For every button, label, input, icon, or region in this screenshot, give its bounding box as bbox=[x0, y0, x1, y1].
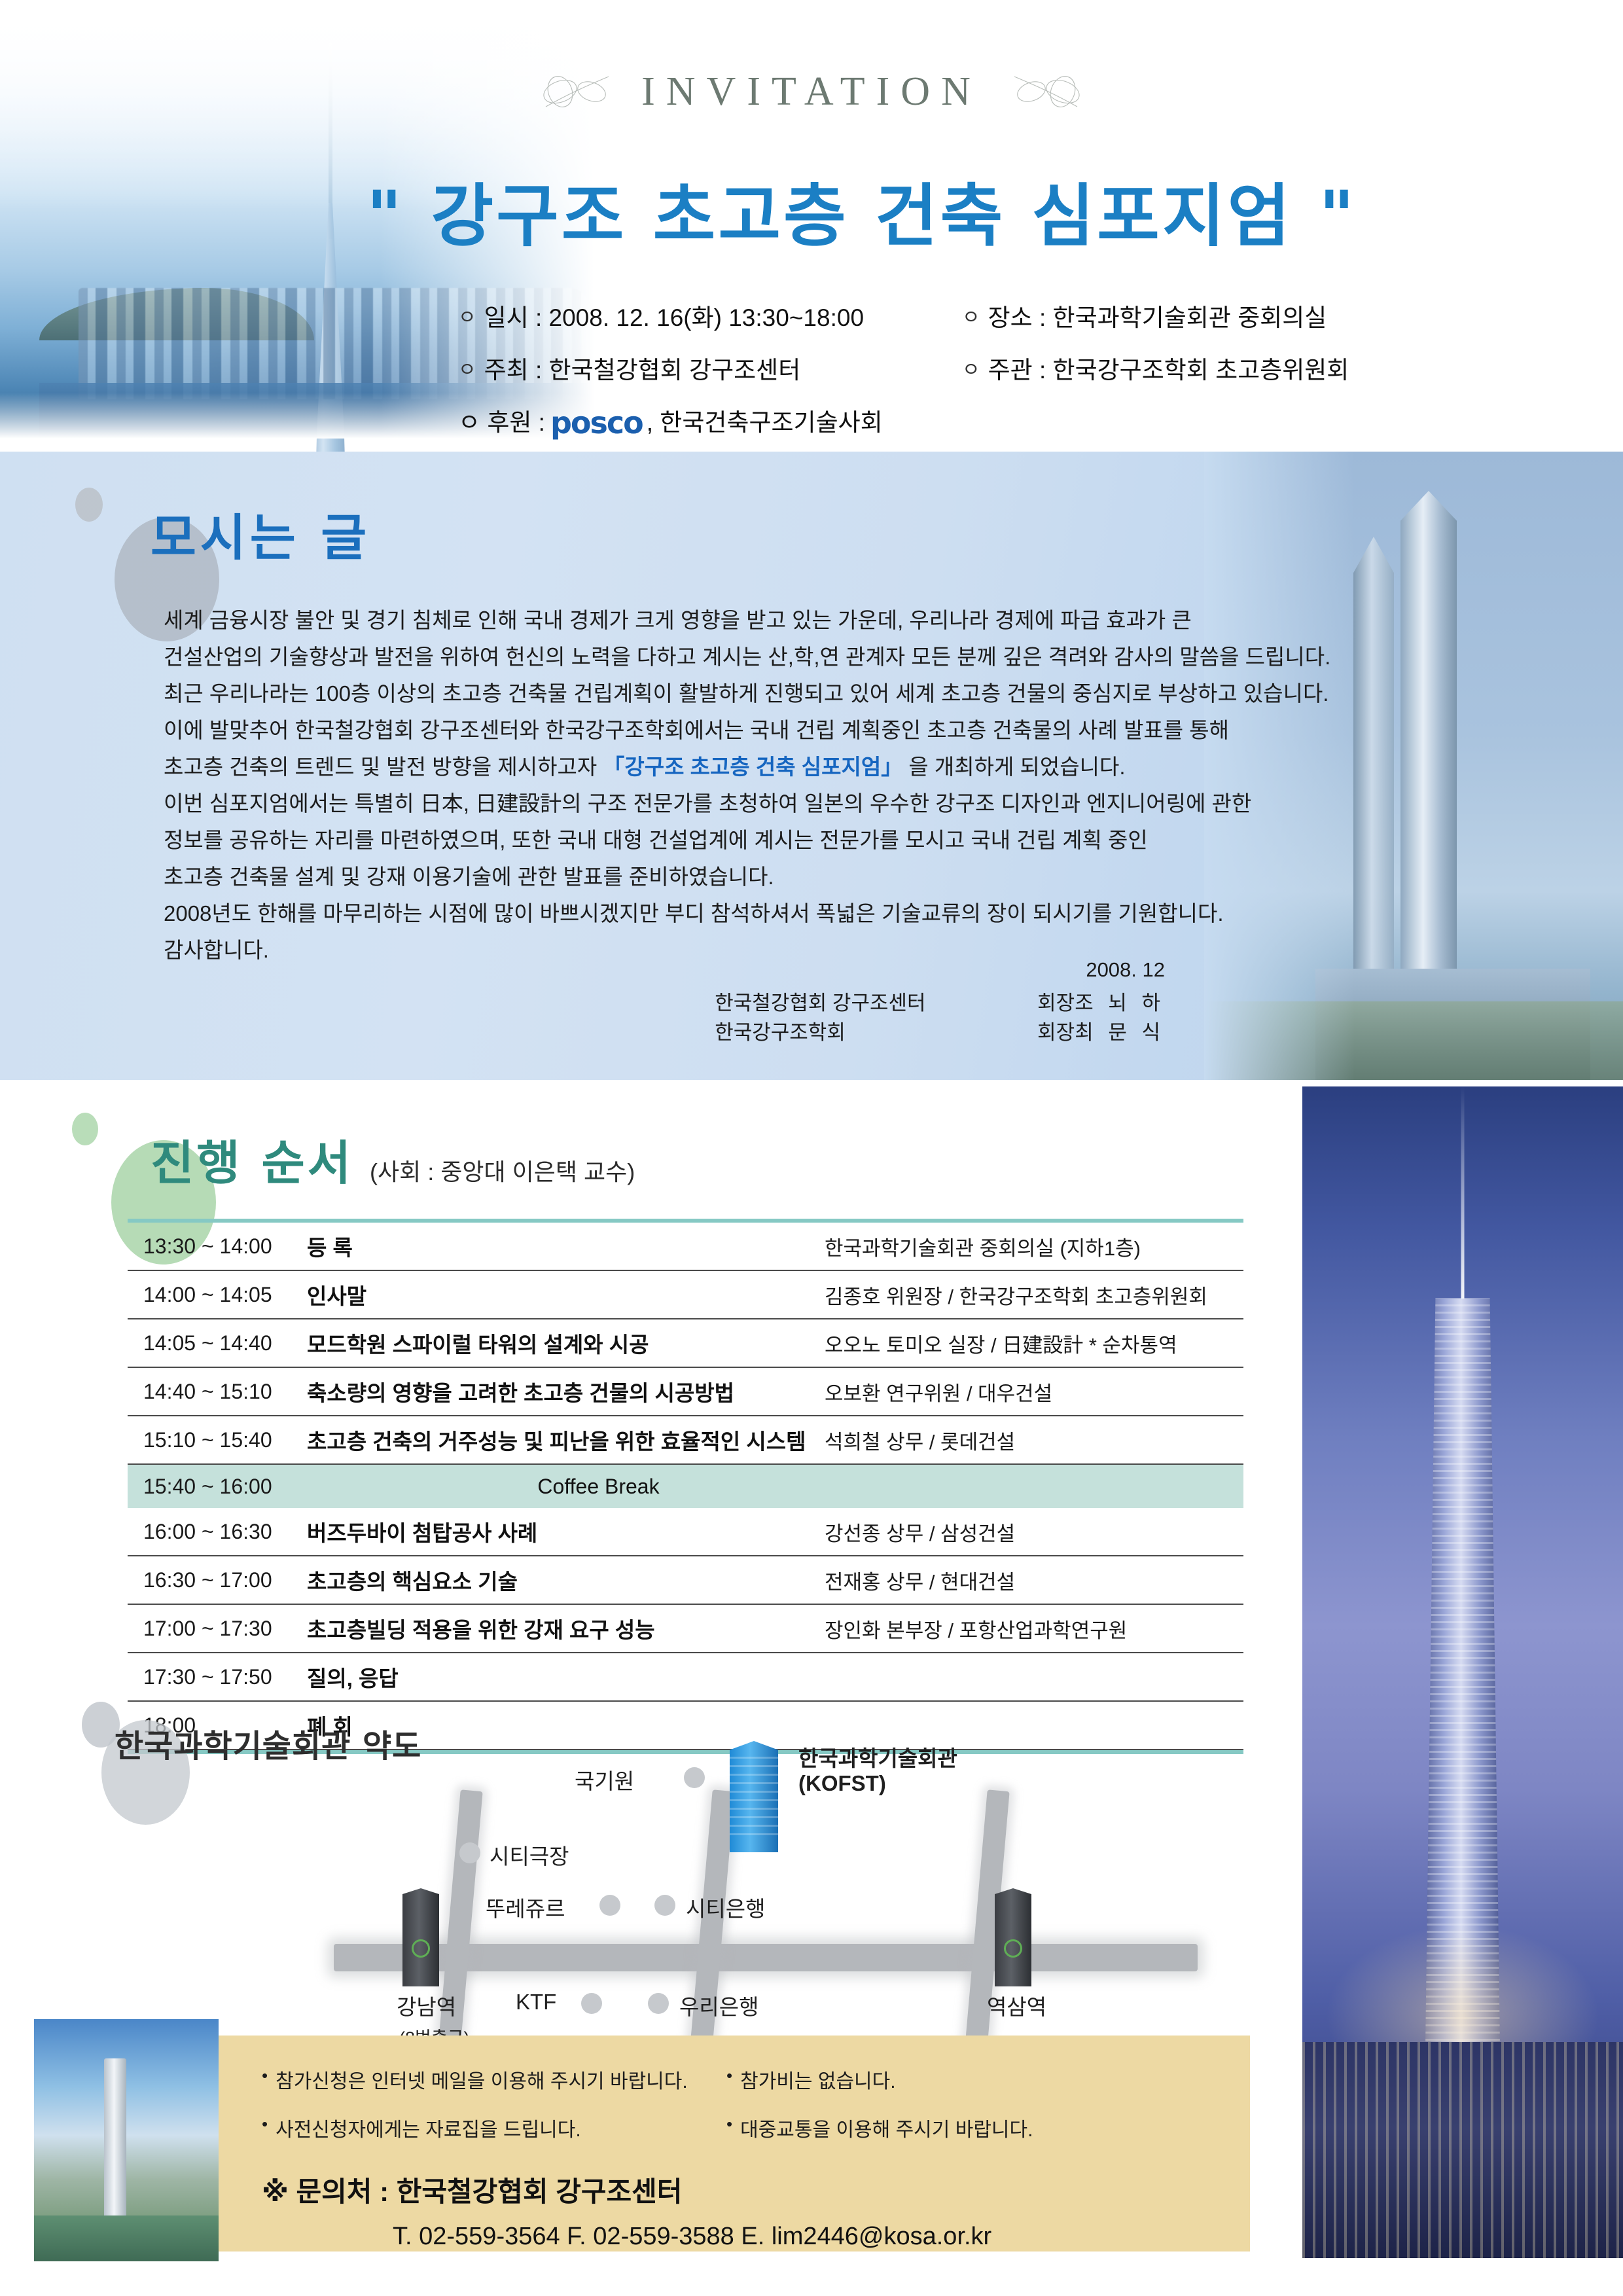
program-subtitle: (사회 : 중앙대 이은택 교수) bbox=[370, 1153, 635, 1187]
meta-sponsor: ㅇ 후원 : posco , 한국건축구조기술사회 bbox=[458, 403, 883, 438]
row-time: 16:00 ~ 16:30 bbox=[128, 1520, 307, 1544]
row-time: 15:40 ~ 16:00 bbox=[128, 1475, 307, 1499]
bullet-dot-icon: • bbox=[726, 2113, 732, 2136]
poi-label-gukgiwon: 국기원 bbox=[575, 1764, 634, 1795]
note-text: 참가신청은 인터넷 메일을 이용해 주시기 바랍니다. bbox=[276, 2065, 688, 2094]
row-topic: 인사말 bbox=[307, 1279, 825, 1310]
flourish-left-icon bbox=[541, 69, 613, 115]
table-row: 16:00 ~ 16:30 버즈두바이 첨탑공사 사례 강선종 상무 / 삼성건… bbox=[128, 1508, 1243, 1556]
yeoksam-station-marker bbox=[995, 1888, 1031, 1986]
poi-label-gangnam-station: 강남역 bbox=[397, 1990, 456, 2021]
note-item: • 사전신청자에게는 자료집을 드립니다. bbox=[262, 2113, 726, 2142]
table-row: 15:10 ~ 15:40 초고층 건축의 거주성능 및 피난을 위한 효율적인… bbox=[128, 1416, 1243, 1465]
footer-notes: • 참가신청은 인터넷 메일을 이용해 주시기 바랍니다. • 참가비는 없습니… bbox=[262, 2065, 1178, 2162]
footer-thumbnail-image bbox=[34, 2019, 219, 2261]
signature-name: 조 뇌 하 bbox=[1075, 989, 1165, 1018]
meta-sponsor-rest: , 한국건축구조기술사회 bbox=[647, 403, 883, 438]
schedule-table: 13:30 ~ 14:00 등 록 한국과학기술회관 중회의실 (지하1층) 1… bbox=[128, 1219, 1243, 1754]
signature-name: 최 문 식 bbox=[1075, 1018, 1165, 1048]
contact-details: T. 02-559-3564 F. 02-559-3588 E. lim2446… bbox=[393, 2223, 991, 2251]
row-time: 17:00 ~ 17:30 bbox=[128, 1617, 307, 1641]
greeting-paragraph: 건설산업의 기술향상과 발전을 위하여 헌신의 노력을 다하고 계시는 산,학,… bbox=[164, 645, 1185, 670]
signature-line: 한국철강협회 강구조센터 회장 조 뇌 하 bbox=[715, 989, 1165, 1018]
row-time: 17:30 ~ 17:50 bbox=[128, 1665, 307, 1689]
row-topic: 초고층의 핵심요소 기술 bbox=[307, 1564, 825, 1596]
note-row: • 사전신청자에게는 자료집을 드립니다. • 대중교통을 이용해 주시기 바랍… bbox=[262, 2113, 1178, 2142]
greeting-paragraph: 이번 심포지엄에서는 특별히 日本, 日建設計의 구조 전문가를 초청하여 일본… bbox=[164, 792, 1185, 816]
note-row: • 참가신청은 인터넷 메일을 이용해 주시기 바랍니다. • 참가비는 없습니… bbox=[262, 2065, 1178, 2094]
row-speaker: 김종호 위원장 / 한국강구조학회 초고층위원회 bbox=[825, 1280, 1243, 1310]
greeting-paragraph-highlight: 초고층 건축의 트렌드 및 발전 방향을 제시하고자 「강구조 초고층 건축 심… bbox=[164, 755, 1185, 780]
meta-bullet-icon: ㅇ bbox=[458, 301, 476, 330]
row-speaker: 장인화 본부장 / 포항산업과학연구원 bbox=[825, 1614, 1243, 1643]
table-row: 14:40 ~ 15:10 축소량의 영향을 고려한 초고층 건물의 시공방법 … bbox=[128, 1368, 1243, 1416]
row-topic: 초고층 건축의 거주성능 및 피난을 위한 효율적인 시스템 bbox=[307, 1424, 825, 1456]
posco-logo: posco bbox=[550, 405, 643, 440]
meta-host-text: 주최 : 한국철강협회 강구조센터 bbox=[484, 350, 801, 386]
location-map: 국기원 한국과학기술회관 (KOFST) 시티극장 뚜레쥬르 시티은행 강남역 … bbox=[281, 1728, 1250, 2042]
note-text: 사전신청자에게는 자료집을 드립니다. bbox=[276, 2113, 581, 2142]
bullet-dot-icon: • bbox=[262, 2113, 268, 2136]
meta-bullet-icon: ㅇ bbox=[458, 353, 476, 382]
tower-secondary bbox=[1353, 537, 1394, 988]
row-topic: 초고층빌딩 적용을 위한 강재 요구 성능 bbox=[307, 1613, 825, 1644]
highlight-post: 을 개최하게 되었습니다. bbox=[902, 755, 1125, 779]
poi-label-woori-bank: 우리은행 bbox=[679, 1990, 758, 2021]
greeting-paragraph: 2008년도 한해를 마무리하는 시점에 많이 바쁘시겠지만 부디 참석하셔서 … bbox=[164, 902, 1185, 926]
table-row: 17:00 ~ 17:30 초고층빌딩 적용을 위한 강재 요구 성능 장인화 … bbox=[128, 1605, 1243, 1653]
poi-dot-woori-bank bbox=[648, 1993, 669, 2014]
contact-block: ※ 문의처 : 한국철강협회 강구조센터 T. 02-559-3564 F. 0… bbox=[262, 2170, 991, 2251]
meta-host: ㅇ 주최 : 한국철강협회 강구조센터 bbox=[458, 350, 962, 386]
greeting-paragraph: 이에 발맞추어 한국철강협회 강구조센터와 한국강구조학회에서는 국내 건립 계… bbox=[164, 719, 1185, 743]
meta-bullet-icon: ㅇ bbox=[962, 353, 980, 382]
poi-dot-tous-les-jours bbox=[599, 1895, 620, 1916]
meta-organizer-text: 주관 : 한국강구조학회 초고층위원회 bbox=[988, 350, 1349, 386]
table-row: 17:30 ~ 17:50 질의, 응답 bbox=[128, 1653, 1243, 1702]
highlight-pre: 초고층 건축의 트렌드 및 발전 방향을 제시하고자 bbox=[164, 755, 603, 779]
greeting-paragraph: 정보를 공유하는 자리를 마련하였으며, 또한 국내 대형 건설업계에 계시는 … bbox=[164, 829, 1185, 853]
event-meta: ㅇ 일시 : 2008. 12. 16(화) 13:30~18:00 ㅇ 장소 … bbox=[458, 298, 1505, 452]
row-topic: 버즈두바이 첨탑공사 사례 bbox=[307, 1516, 825, 1547]
letter-image-fade bbox=[1204, 452, 1355, 1080]
meta-bullet-icon: ㅇ bbox=[962, 301, 980, 330]
row-speaker: 강선종 상무 / 삼성건설 bbox=[825, 1517, 1243, 1547]
signature-block: 2008. 12 한국철강협회 강구조센터 회장 조 뇌 하 한국강구조학회 회… bbox=[715, 956, 1165, 1048]
thumbnail-tower bbox=[104, 2058, 126, 2222]
greeting-heading: 모시는 글 bbox=[151, 497, 370, 569]
row-time: 14:05 ~ 14:40 bbox=[128, 1331, 307, 1355]
program-heading: 진행 순서 bbox=[151, 1124, 353, 1193]
signature-line: 한국강구조학회 회장 최 문 식 bbox=[715, 1018, 1165, 1048]
greeting-paragraph: 세계 금융시장 불안 및 경기 침체로 인해 국내 경제가 크게 영향을 받고 … bbox=[164, 609, 1185, 633]
row-time: 14:40 ~ 15:10 bbox=[128, 1380, 307, 1404]
row-speaker: 전재홍 상무 / 현대건설 bbox=[825, 1566, 1243, 1595]
gangnam-station-marker bbox=[402, 1888, 439, 1986]
meta-venue: ㅇ 장소 : 한국과학기술회관 중회의실 bbox=[962, 298, 1327, 333]
row-time: 13:30 ~ 14:00 bbox=[128, 1234, 307, 1259]
poster-header: INVITATION " 강구조 초고층 건축 심포지엄 " ㅇ 일시 : 20… bbox=[0, 0, 1623, 452]
night-city bbox=[1302, 2042, 1623, 2258]
row-topic: 모드학원 스파이럴 타워의 설계와 시공 bbox=[307, 1327, 825, 1359]
note-text: 대중교통을 이용해 주시기 바랍니다. bbox=[740, 2113, 1033, 2142]
poi-label-yeoksam-station: 역삼역 bbox=[987, 1990, 1046, 2021]
signature-date: 2008. 12 bbox=[715, 956, 1165, 985]
invitation-word: INVITATION bbox=[641, 69, 982, 115]
road-vertical-mid bbox=[688, 1789, 734, 2072]
poi-dot-ktf bbox=[581, 1993, 602, 2014]
note-text: 참가비는 없습니다. bbox=[740, 2065, 895, 2094]
signature-role: 회장 bbox=[996, 989, 1075, 1018]
table-row: 16:30 ~ 17:00 초고층의 핵심요소 기술 전재홍 상무 / 현대건설 bbox=[128, 1556, 1243, 1605]
flourish-right-icon bbox=[1010, 69, 1082, 115]
meta-venue-text: 장소 : 한국과학기술회관 중회의실 bbox=[988, 298, 1327, 333]
poi-label-city-theater: 시티극장 bbox=[490, 1839, 569, 1871]
row-topic: 질의, 응답 bbox=[307, 1661, 825, 1693]
poi-label-ktf: KTF bbox=[516, 1990, 556, 2015]
symposium-name-highlight: 「강구조 초고층 건축 심포지엄」 bbox=[603, 755, 902, 779]
row-speaker: 한국과학기술회관 중회의실 (지하1층) bbox=[825, 1232, 1243, 1261]
poi-dot-gukgiwon bbox=[684, 1767, 705, 1788]
row-speaker: 석희철 상무 / 롯데건설 bbox=[825, 1426, 1243, 1455]
row-speaker: 오오노 토미오 실장 / 日建設計 * 순차통역 bbox=[825, 1329, 1243, 1358]
venue-label-name: 한국과학기술회관 bbox=[798, 1741, 957, 1772]
row-topic: Coffee Break bbox=[307, 1475, 1243, 1499]
bullet-dot-icon: • bbox=[726, 2065, 732, 2087]
tower-light-beam bbox=[1461, 1086, 1465, 1302]
meta-row: ㅇ 후원 : posco , 한국건축구조기술사회 bbox=[458, 403, 1505, 438]
kofst-building-icon bbox=[730, 1741, 778, 1852]
poi-label-tous-les-jours: 뚜레쥬르 bbox=[486, 1892, 565, 1923]
note-item: • 대중교통을 이용해 주시기 바랍니다. bbox=[726, 2113, 1033, 2142]
table-row: 14:00 ~ 14:05 인사말 김종호 위원장 / 한국강구조학회 초고층위… bbox=[128, 1271, 1243, 1319]
thumbnail-water bbox=[34, 2215, 219, 2261]
poster-title: " 강구조 초고층 건축 심포지엄 " bbox=[366, 160, 1283, 259]
meta-row: ㅇ 주최 : 한국철강협회 강구조센터 ㅇ 주관 : 한국강구조학회 초고층위원… bbox=[458, 350, 1505, 386]
row-time: 16:30 ~ 17:00 bbox=[128, 1568, 307, 1592]
meta-sponsor-label: ㅇ 후원 : bbox=[458, 403, 545, 438]
bullet-dot-icon: • bbox=[262, 2065, 268, 2087]
row-topic: 축소량의 영향을 고려한 초고층 건물의 시공방법 bbox=[307, 1376, 825, 1407]
table-row: 14:05 ~ 14:40 모드학원 스파이럴 타워의 설계와 시공 오오노 토… bbox=[128, 1319, 1243, 1368]
row-speaker: 오보환 연구위원 / 대우건설 bbox=[825, 1377, 1243, 1407]
table-row: 13:30 ~ 14:00 등 록 한국과학기술회관 중회의실 (지하1층) bbox=[128, 1223, 1243, 1271]
decor-dot-small bbox=[75, 488, 103, 522]
poi-dot-citibank bbox=[654, 1895, 675, 1916]
greeting-body: 세계 금융시장 불안 및 경기 침체로 인해 국내 경제가 크게 영향을 받고 … bbox=[164, 609, 1185, 975]
contact-title: ※ 문의처 : 한국철강협회 강구조센터 bbox=[262, 2170, 991, 2210]
table-row-break: 15:40 ~ 16:00 Coffee Break bbox=[128, 1465, 1243, 1508]
letter-tower-image bbox=[1204, 452, 1623, 1080]
signature-org: 한국강구조학회 bbox=[715, 1018, 996, 1048]
poi-label-citibank: 시티은행 bbox=[686, 1892, 765, 1923]
meta-organizer: ㅇ 주관 : 한국강구조학회 초고층위원회 bbox=[962, 350, 1349, 386]
poi-dot-city-theater bbox=[459, 1842, 480, 1863]
greeting-paragraph: 초고층 건축물 설계 및 강재 이용기술에 관한 발표를 준비하였습니다. bbox=[164, 865, 1185, 889]
tower-primary bbox=[1400, 491, 1457, 988]
row-topic: 등 록 bbox=[307, 1230, 825, 1262]
row-time: 14:00 ~ 14:05 bbox=[128, 1283, 307, 1307]
meta-datetime: ㅇ 일시 : 2008. 12. 16(화) 13:30~18:00 bbox=[458, 298, 962, 333]
venue-label-sub: (KOFST) bbox=[798, 1771, 886, 1796]
signature-role: 회장 bbox=[996, 1018, 1075, 1048]
note-item: • 참가신청은 인터넷 메일을 이용해 주시기 바랍니다. bbox=[262, 2065, 726, 2094]
signature-org: 한국철강협회 강구조센터 bbox=[715, 989, 996, 1018]
greeting-paragraph: 최근 우리나라는 100층 이상의 초고층 건축물 건립계획이 활발하게 진행되… bbox=[164, 682, 1185, 706]
note-item: • 참가비는 없습니다. bbox=[726, 2065, 896, 2094]
meta-row: ㅇ 일시 : 2008. 12. 16(화) 13:30~18:00 ㅇ 장소 … bbox=[458, 298, 1505, 333]
night-tower-image bbox=[1302, 1086, 1623, 2258]
row-time: 15:10 ~ 15:40 bbox=[128, 1428, 307, 1452]
invitation-banner: INVITATION bbox=[484, 62, 1139, 121]
meta-datetime-text: 일시 : 2008. 12. 16(화) 13:30~18:00 bbox=[484, 298, 864, 333]
decor-dot-small-green bbox=[72, 1113, 98, 1145]
